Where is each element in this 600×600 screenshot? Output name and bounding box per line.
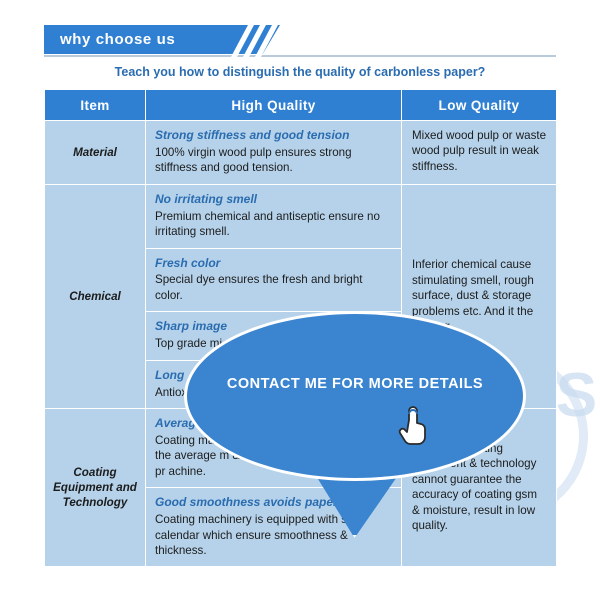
row-item-chemical: Chemical [45,184,146,408]
contact-callout-bubble[interactable]: CONTACT ME FOR MORE DETAILS [184,311,526,481]
callout-label: CONTACT ME FOR MORE DETAILS [187,376,523,392]
column-header-item: Item [45,90,146,121]
row-item-material: Material [45,121,146,185]
section-tab-label: why choose us [60,31,175,48]
table-header-row: Item High Quality Low Quality [45,90,557,121]
feature-heading: Strong stiffness and good tension [155,128,392,144]
column-header-high-quality: High Quality [146,90,402,121]
cell-high-chemical-2: Fresh color Special dye ensures the fres… [146,248,402,312]
column-header-low-quality: Low Quality [402,90,557,121]
feature-body: Special dye ensures the fresh and bright… [155,272,392,303]
row-item-coating: Coating Equipment and Technology [45,409,146,567]
feature-body: Premium chemical and antiseptic ensure n… [155,209,392,240]
section-tab: why choose us [44,25,244,54]
feature-body: 100% virgin wood pulp ensures strong sti… [155,145,392,176]
cell-low-material: Mixed wood pulp or waste wood pulp resul… [402,121,557,185]
table-row: Material Strong stiffness and good tensi… [45,121,557,185]
cell-high-material-1: Strong stiffness and good tension 100% v… [146,121,402,185]
section-header: why choose us [44,25,556,57]
header-divider [44,55,556,57]
table-row: Chemical No irritating smell Premium che… [45,184,557,248]
page-subtitle: Teach you how to distinguish the quality… [0,65,600,79]
feature-heading: No irritating smell [155,192,392,208]
feature-heading: Fresh color [155,256,392,272]
cell-high-chemical-1: No irritating smell Premium chemical and… [146,184,402,248]
pointing-hand-cursor-icon [397,404,431,446]
page-root: FOCUS OCUS why choose us Teach you how t… [0,0,600,600]
